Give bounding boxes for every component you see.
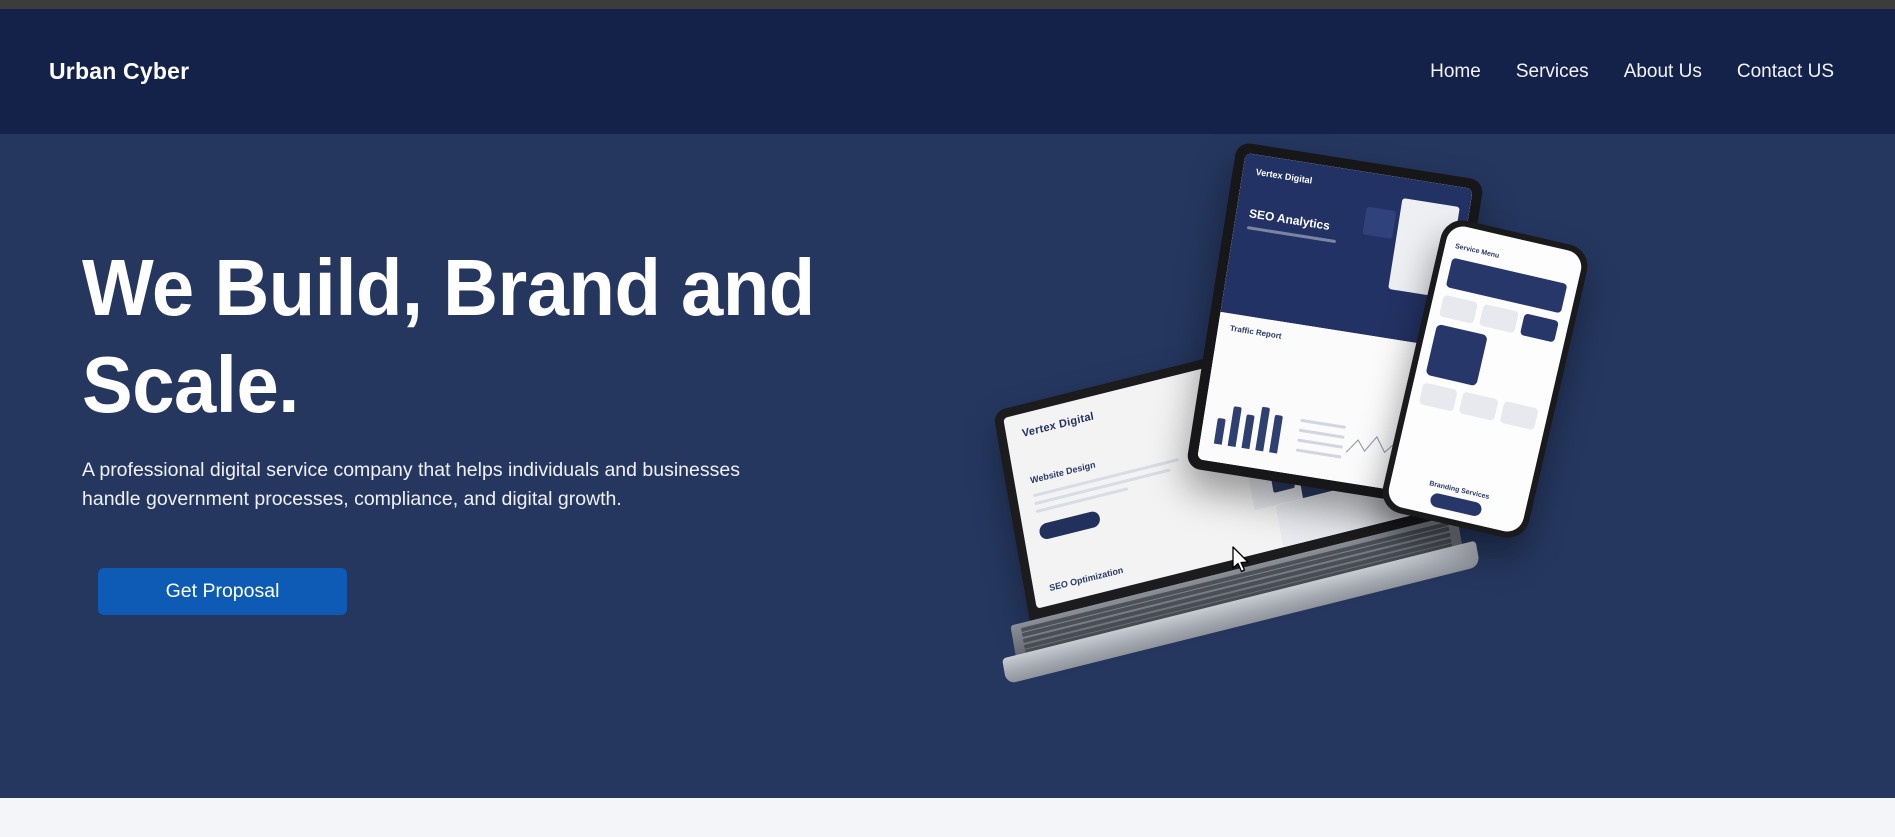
laptop-cta-button (1038, 510, 1101, 541)
tablet-bar-chart (1214, 398, 1284, 453)
laptop-section-two-heading: SEO Optimization (1049, 565, 1124, 593)
browser-chrome-strip (0, 0, 1895, 9)
brand-logo[interactable]: Urban Cyber (49, 58, 189, 85)
nav-links: Home Services About Us Contact US (1430, 61, 1834, 83)
hero-title-line-1: We Build, Brand and (82, 239, 871, 336)
nav-link-contact-us[interactable]: Contact US (1737, 61, 1834, 83)
site-navbar: Urban Cyber Home Services About Us Conta… (0, 9, 1895, 134)
phone-icon-grid-secondary (1419, 382, 1539, 430)
tablet-chart-legend (1294, 419, 1346, 466)
nav-link-services[interactable]: Services (1516, 61, 1589, 83)
get-proposal-button[interactable]: Get Proposal (98, 568, 347, 615)
page-title: We Build, Brand and Scale. (82, 239, 871, 433)
nav-link-home[interactable]: Home (1430, 61, 1481, 83)
hero-section: We Build, Brand and Scale. A professiona… (0, 134, 1895, 798)
device-mockup-group: Vertex Digital Website Design SEO Optimi… (990, 159, 1630, 679)
hero-copy: We Build, Brand and Scale. A professiona… (82, 239, 912, 514)
nav-link-about-us[interactable]: About Us (1624, 61, 1702, 83)
tablet-accent-panel (1362, 207, 1396, 239)
page-below-fold (0, 798, 1895, 837)
hero-title-line-2: Scale. (82, 336, 871, 433)
hero-subtitle: A professional digital service company t… (82, 456, 782, 514)
phone-highlight-tile (1425, 324, 1487, 386)
